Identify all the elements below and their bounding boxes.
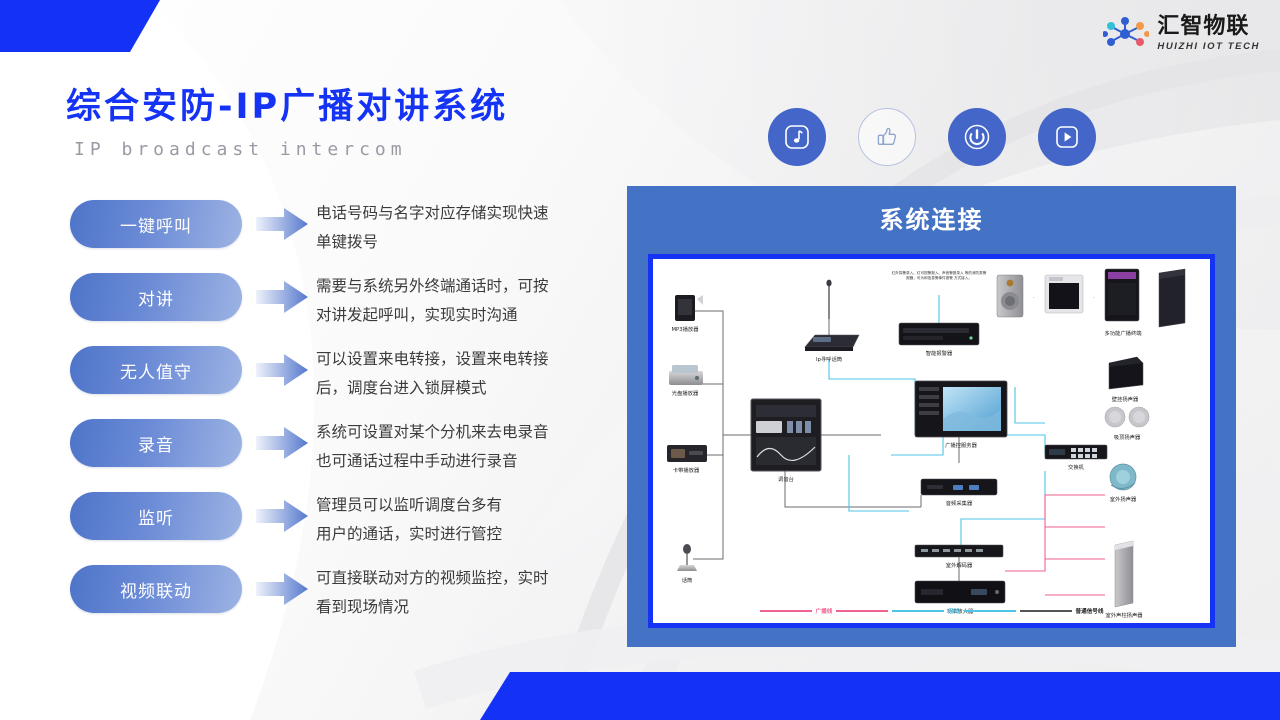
arrow-right-icon (254, 423, 310, 463)
feature-description-line: 电话号码与名字对应存储实现快速 (316, 199, 616, 228)
panel-title: 系统连接 (627, 186, 1236, 248)
page-title: 综合安防-IP广播对讲系统 (66, 78, 508, 129)
feature-pill-2[interactable]: 无人值守 (70, 346, 242, 394)
thumbs-up-icon[interactable] (858, 108, 916, 166)
feature-description-1: 需要与系统另外终端通话时，可按对讲发起呼叫，实现实时沟通 (316, 271, 616, 330)
feature-description-line: 用户的通话，实时进行管控 (316, 520, 616, 549)
diagram-note: 红外探警录入、红可视警报入、声音警报录入 等的消防类警报器，可为和信息警事件报警… (891, 271, 987, 281)
feature-description-line: 可以设置来电转接，设置来电转接 (316, 345, 616, 374)
bottom-right-accent-bar (480, 672, 1280, 720)
feature-row: 监听 管理员可以监听调度台多有用户的通话，实时进行管控 (70, 490, 616, 563)
diagram-label-broadcast-server: 广播控服务器 (945, 441, 977, 449)
feature-description-0: 电话号码与名字对应存储实现快速单键拨号 (316, 198, 616, 257)
feature-list: 一键呼叫 电话号码与名字对应存储实现快速单键拨号对讲 需要与系统另外终端通话时，… (70, 198, 616, 636)
feature-description-line: 需要与系统另外终端通话时，可按 (316, 272, 616, 301)
diagram-label-smart-alarm: 智能报警器 (926, 349, 953, 357)
feature-row: 无人值守 可以设置来电转接，设置来电转接后，调度台进入锁屏模式 (70, 344, 616, 417)
feature-description-line: 对讲发起呼叫，实现实时沟通 (316, 301, 616, 330)
feature-pill-1[interactable]: 对讲 (70, 273, 242, 321)
page-title-block: 综合安防-IP广播对讲系统 IP broadcast intercom (66, 78, 508, 160)
feature-pill-0[interactable]: 一键呼叫 (70, 200, 242, 248)
feature-pill-5[interactable]: 视频联动 (70, 565, 242, 613)
diagram-label-ceiling-speaker: 吸顶扬声器 (1114, 433, 1141, 441)
legend-line-swatch (836, 610, 888, 611)
legend-line-swatch (964, 610, 1016, 611)
logo-chinese-name: 汇智物联 (1157, 16, 1260, 38)
feature-description-line: 单键拨号 (316, 228, 616, 257)
feature-description-line: 后，调度台进入锁屏模式 (316, 374, 616, 403)
diagram-label-switch: 交换机 (1068, 463, 1084, 471)
feature-row: 对讲 需要与系统另外终端通话时，可按对讲发起呼叫，实现实时沟通 (70, 271, 616, 344)
logo-english-name: HUIZHI IOT TECH (1157, 42, 1260, 52)
feature-description-line: 看到现场情况 (316, 593, 616, 622)
molecule-nodes-icon (1103, 17, 1149, 51)
brand-logo: 汇智物联 HUIZHI IOT TECH (1103, 10, 1260, 58)
page-subtitle: IP broadcast intercom (74, 139, 508, 160)
diagram-label-outdoor-decoder: 室外解码器 (946, 561, 973, 569)
arrow-right-icon (254, 496, 310, 536)
feature-description-3: 系统可设置对某个分机来去电录音也可通话过程中手动进行录音 (316, 417, 616, 476)
feature-description-4: 管理员可以监听调度台多有用户的通话，实时进行管控 (316, 490, 616, 549)
svg-text:·: · (1033, 295, 1035, 301)
diagram-label-mp3: MP3播放器 (671, 325, 698, 333)
legend-label: 网线 (948, 607, 959, 615)
legend-label: 广播线 (816, 607, 833, 615)
feature-pill-4[interactable]: 监听 (70, 492, 242, 540)
diagram-label-mixer: 调音台 (778, 475, 794, 483)
diagram-frame: · · (648, 254, 1215, 628)
diagram-label-indoor-speaker: 室外扬声器 (1110, 495, 1137, 503)
feature-row: 录音 系统可设置对某个分机来去电录音也可通话过程中手动进行录音 (70, 417, 616, 490)
feature-description-line: 可直接联动对方的视频监控，实时 (316, 564, 616, 593)
feature-row: 一键呼叫 电话号码与名字对应存储实现快速单键拨号 (70, 198, 616, 271)
feature-description-line: 也可通话过程中手动进行录音 (316, 447, 616, 476)
system-connection-panel: 系统连接 (627, 186, 1236, 647)
diagram-label-cd: 光盘播放器 (672, 389, 699, 397)
diagram-label-ip-paging-mic: Ip寻呼话筒 (816, 355, 842, 363)
diagram-label-wall-speaker: 壁挂扬声器 (1112, 395, 1139, 403)
diagram-legend: 广播线网线普通信号线 (653, 607, 1210, 615)
system-connection-diagram: · · (653, 259, 1210, 623)
svg-text:·: · (1093, 295, 1095, 301)
music-note-icon[interactable] (768, 108, 826, 166)
legend-line-swatch (1020, 610, 1072, 611)
feature-pill-3[interactable]: 录音 (70, 419, 242, 467)
diagram-label-multifunction-terminal: 多功能广播终端 (1104, 329, 1141, 337)
feature-description-5: 可直接联动对方的视频监控，实时看到现场情况 (316, 563, 616, 622)
play-icon[interactable] (1038, 108, 1096, 166)
arrow-right-icon (254, 569, 310, 609)
feature-icon-row (768, 108, 1096, 166)
arrow-right-icon (254, 204, 310, 244)
feature-description-line: 管理员可以监听调度台多有 (316, 491, 616, 520)
legend-label: 普通信号线 (1076, 607, 1104, 615)
arrow-right-icon (254, 350, 310, 390)
power-icon[interactable] (948, 108, 1006, 166)
feature-row: 视频联动 可直接联动对方的视频监控，实时看到现场情况 (70, 563, 616, 636)
diagram-label-cassette: 卡带播放器 (673, 466, 700, 474)
legend-line-swatch (760, 610, 812, 611)
feature-description-line: 系统可设置对某个分机来去电录音 (316, 418, 616, 447)
arrow-right-icon (254, 277, 310, 317)
legend-line-swatch (892, 610, 944, 611)
diagram-label-microphone: 话筒 (682, 576, 693, 584)
feature-description-2: 可以设置来电转接，设置来电转接后，调度台进入锁屏模式 (316, 344, 616, 403)
diagram-label-audio-collector: 音频采集器 (946, 499, 973, 507)
